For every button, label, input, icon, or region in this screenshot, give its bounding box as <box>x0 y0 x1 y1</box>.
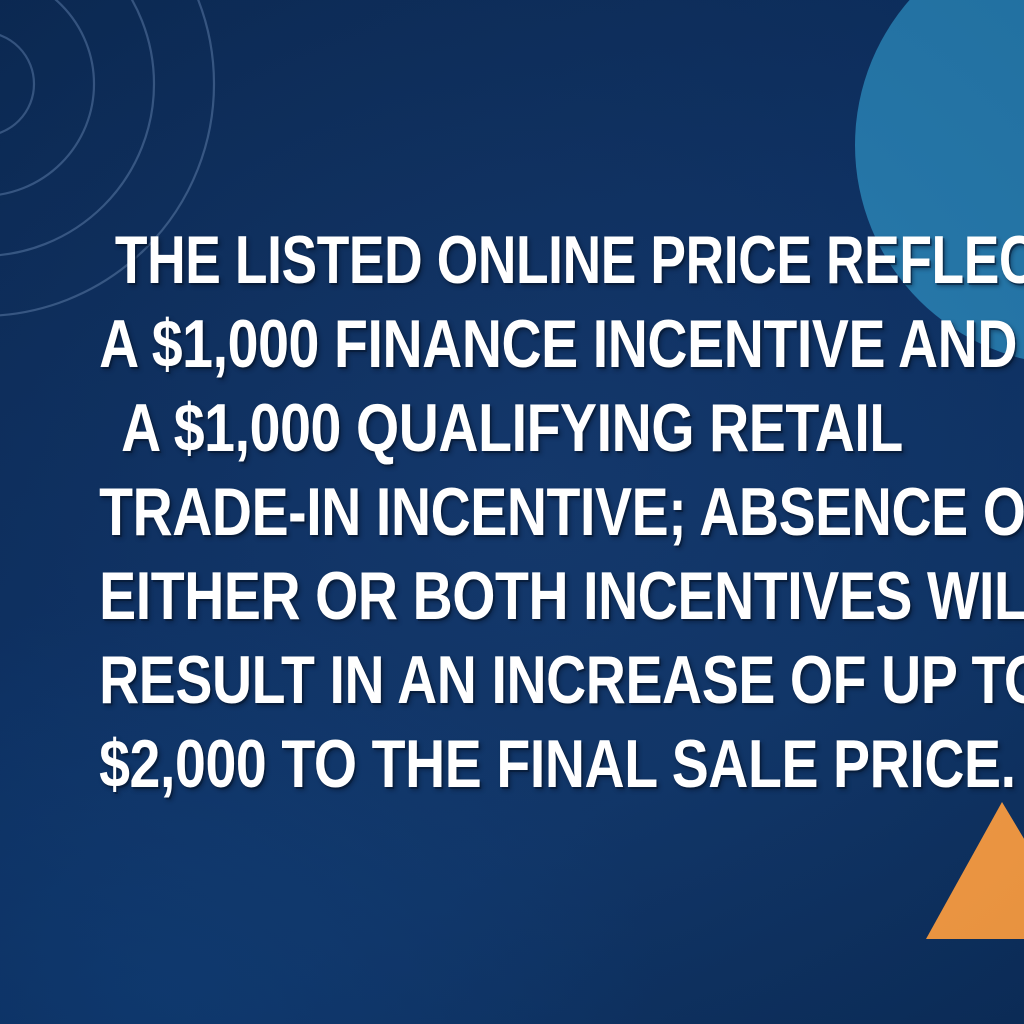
disclaimer-line-3: A $1,000 QUALIFYING RETAIL <box>99 386 925 470</box>
disclaimer-text-block: THE LISTED ONLINE PRICE REFLECTS A $1,00… <box>0 218 1024 806</box>
disclaimer-headline: THE LISTED ONLINE PRICE REFLECTS A $1,00… <box>107 218 917 806</box>
disclaimer-line-1: THE LISTED ONLINE PRICE REFLECTS <box>115 218 909 302</box>
arc-ring-2 <box>0 0 94 196</box>
disclaimer-line-4: TRADE-IN INCENTIVE; ABSENCE OF <box>99 470 925 554</box>
disclaimer-graphic-canvas: THE LISTED ONLINE PRICE REFLECTS A $1,00… <box>0 0 1024 1024</box>
disclaimer-line-7: $2,000 TO THE FINAL SALE PRICE. <box>99 722 925 806</box>
disclaimer-line-6: RESULT IN AN INCREASE OF UP TO <box>99 638 925 722</box>
arc-ring-1 <box>0 32 34 136</box>
disclaimer-line-5: EITHER OR BOTH INCENTIVES WILL <box>99 554 925 638</box>
disclaimer-line-2: A $1,000 FINANCE INCENTIVE AND <box>99 302 925 386</box>
orange-triangle-decoration <box>924 800 1024 939</box>
